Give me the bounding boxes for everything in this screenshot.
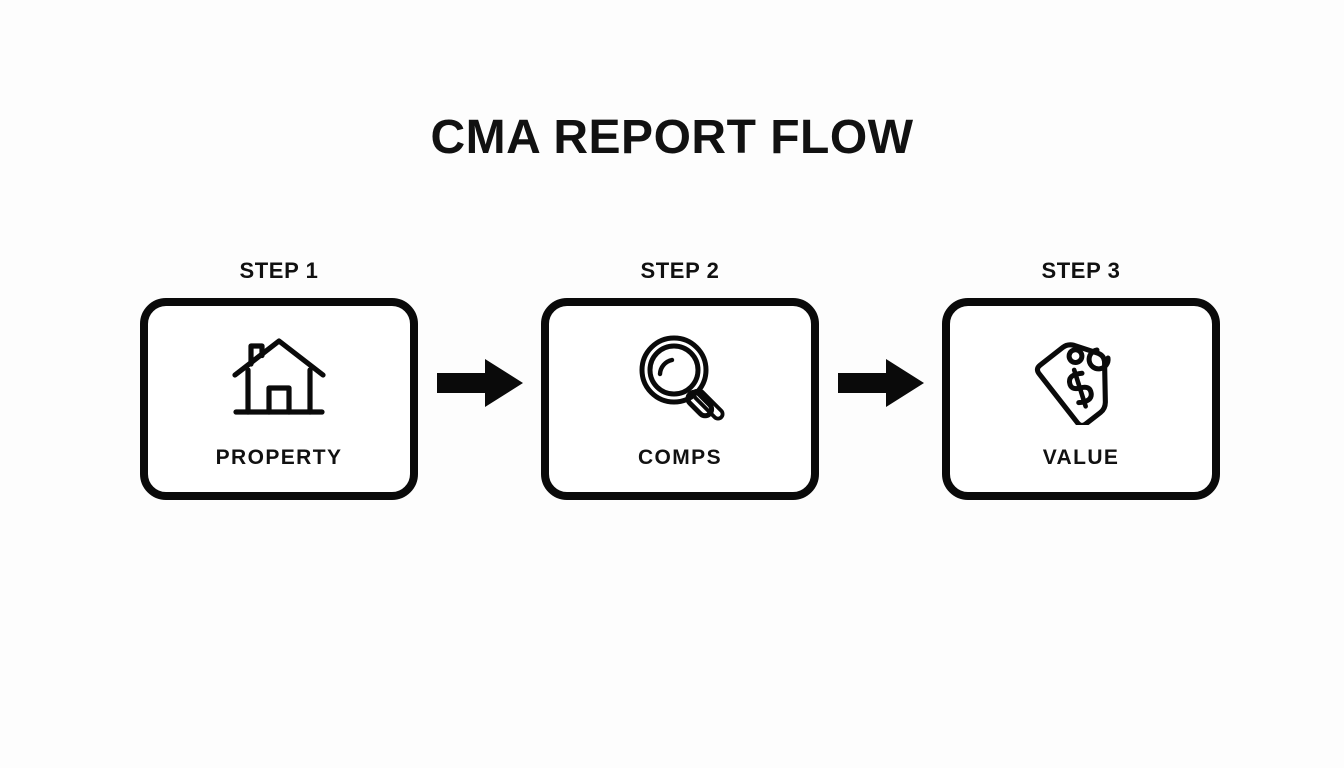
step-2-title: COMPS — [638, 446, 722, 470]
flow-row: STEP 1 — [140, 258, 1220, 508]
step-3-box[interactable]: VALUE — [942, 298, 1220, 500]
diagram-canvas: CMA REPORT FLOW STEP 1 — [0, 0, 1344, 768]
price-tag-dollar-icon — [1029, 332, 1133, 424]
step-2-box[interactable]: COMPS — [541, 298, 819, 500]
arrow-right-icon-1 — [437, 258, 523, 508]
step-1-number-label: STEP 1 — [239, 258, 318, 284]
flow-step-2[interactable]: STEP 2 — [541, 258, 819, 500]
step-3-number-label: STEP 3 — [1041, 258, 1120, 284]
step-3-title: VALUE — [1043, 446, 1120, 470]
flow-step-3[interactable]: STEP 3 — [942, 258, 1220, 500]
flow-step-1[interactable]: STEP 1 — [140, 258, 418, 500]
step-2-number-label: STEP 2 — [640, 258, 719, 284]
step-1-box[interactable]: PROPERTY — [140, 298, 418, 500]
magnifying-glass-icon — [628, 332, 732, 424]
arrow-right-icon-2 — [838, 258, 924, 508]
page-title: CMA REPORT FLOW — [0, 112, 1344, 165]
step-1-title: PROPERTY — [216, 446, 343, 470]
house-icon — [227, 332, 331, 424]
